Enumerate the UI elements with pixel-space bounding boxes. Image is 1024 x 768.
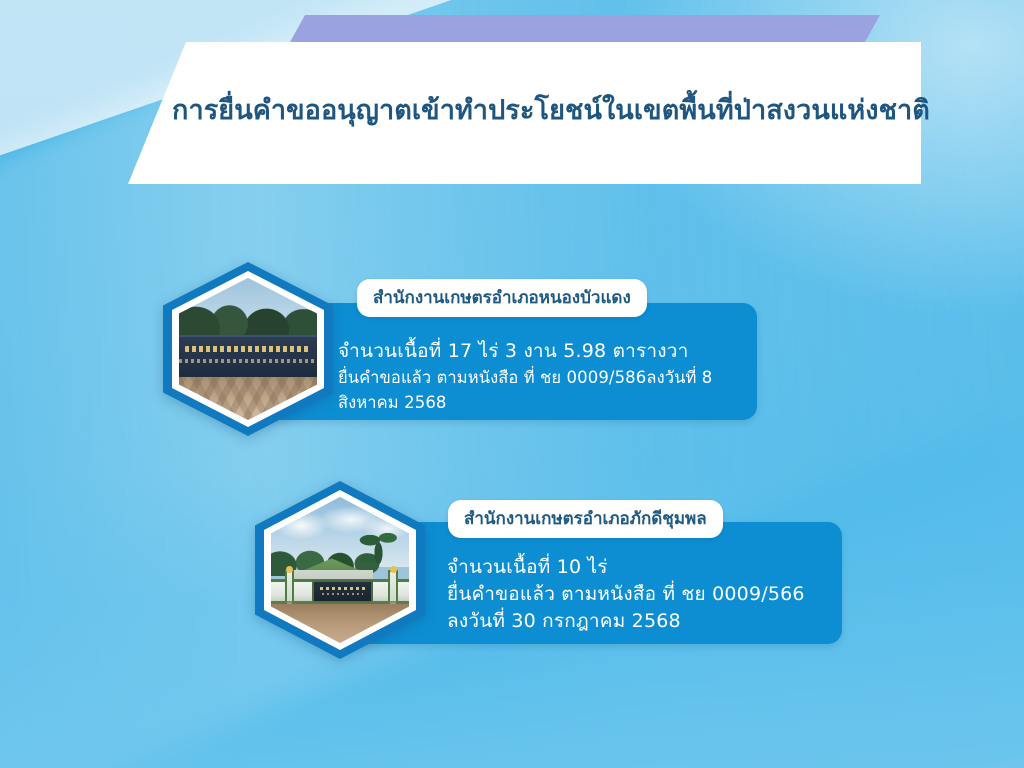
card-2-line-2: ยื่นคำขอแล้ว ตามหนังสือ ที่ ชย 0009/566 xyxy=(447,581,847,608)
card-1-line-2: ยื่นคำขอแล้ว ตามหนังสือ ที่ ชย 0009/586ล… xyxy=(338,365,748,390)
card-1-line-1: จำนวนเนื้อที่ 17 ไร่ 3 งาน 5.98 ตารางวา xyxy=(338,338,748,365)
photo-sign-text-line-1 xyxy=(320,587,365,590)
background-sheen xyxy=(584,0,1024,340)
card-1-line-3: สิงหาคม 2568 xyxy=(338,390,748,415)
card-1-details: จำนวนเนื้อที่ 17 ไร่ 3 งาน 5.98 ตารางวา … xyxy=(338,338,748,415)
photo-sign-wall xyxy=(179,335,317,380)
page-title: การยื่นคำขออนุญาตเข้าทำประโยชน์ในเขตพื้น… xyxy=(172,92,932,130)
photo-sign-text-line-2 xyxy=(322,593,363,595)
photo-lamp-left xyxy=(286,566,293,573)
card-2-photo-hexagon[interactable] xyxy=(255,481,425,659)
card-1-photo-hexagon[interactable] xyxy=(163,262,333,436)
card-2-line-3: ลงวันที่ 30 กรกฎาคม 2568 xyxy=(447,608,847,635)
card-2-details: จำนวนเนื้อที่ 10 ไร่ ยื่นคำขอแล้ว ตามหนั… xyxy=(447,554,847,635)
card-2-title-pill[interactable]: สำนักงานเกษตรอำเภอภักดีชุมพล xyxy=(448,500,723,538)
photo-sign-text-line-1 xyxy=(185,346,310,352)
slide-canvas: การยื่นคำขออนุญาตเข้าทำประโยชน์ในเขตพื้น… xyxy=(0,0,1024,768)
card-2-line-1: จำนวนเนื้อที่ 10 ไร่ xyxy=(447,554,847,581)
photo-lamp-right xyxy=(390,566,397,573)
photo-sign-text-line-2 xyxy=(179,359,316,363)
card-1-title-pill[interactable]: สำนักงานเกษตรอำเภอหนองบัวแดง xyxy=(357,279,647,317)
